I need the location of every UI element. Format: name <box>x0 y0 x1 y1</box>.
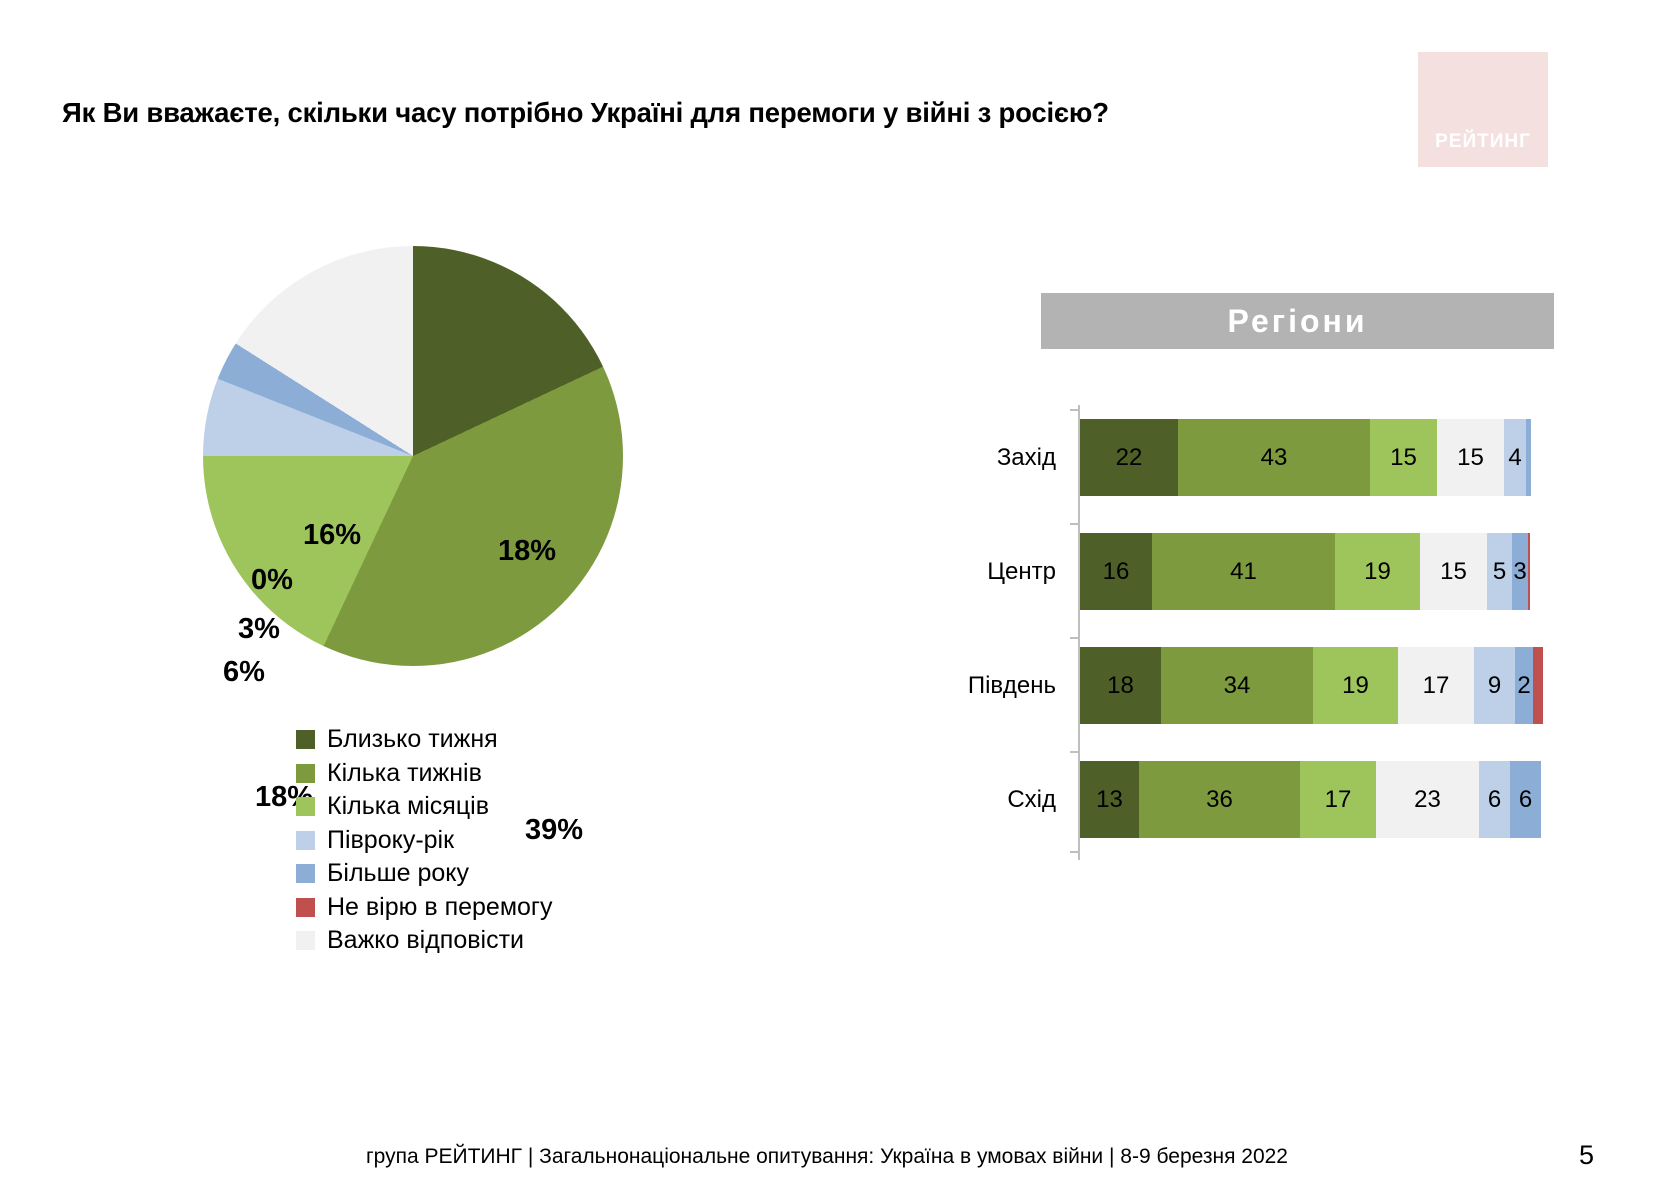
bar-segment[interactable]: 13 <box>1080 761 1139 838</box>
legend-item[interactable]: Півроку-рік <box>296 824 553 858</box>
bar-row-label: Південь <box>960 672 1070 700</box>
bar-segment-value: 18 <box>1107 672 1134 700</box>
bar-segment[interactable]: 19 <box>1335 533 1420 610</box>
regions-header: Регіони <box>1041 293 1554 349</box>
bar-segment[interactable]: 6 <box>1479 761 1510 838</box>
legend-item[interactable]: Важко відповісти <box>296 924 553 958</box>
bar-segment[interactable]: 22 <box>1080 419 1178 496</box>
pie-chart: 18% 39% 18% 6% 3% 0% 16% <box>203 246 643 686</box>
bar-track: 1641191553 <box>1080 533 1530 610</box>
bar-segment[interactable]: 15 <box>1420 533 1487 610</box>
rating-logo: РЕЙТИНГ <box>1418 52 1548 167</box>
pie-label-pivroku-rik: 6% <box>223 656 265 689</box>
bar-segment-value: 15 <box>1390 444 1417 472</box>
bar-segment[interactable]: 23 <box>1376 761 1479 838</box>
logo-text: РЕЙТИНГ <box>1435 131 1531 167</box>
bar-segment[interactable]: 34 <box>1161 647 1313 724</box>
bar-segment[interactable]: 5 <box>1487 533 1512 610</box>
bar-segment-value: 3 <box>1513 558 1526 586</box>
bar-segment[interactable]: 15 <box>1370 419 1437 496</box>
bar-segment[interactable]: 41 <box>1152 533 1335 610</box>
pie-legend: Близько тижняКілька тижнівКілька місяців… <box>296 723 553 958</box>
page-number: 5 <box>1579 1140 1594 1171</box>
legend-swatch-icon <box>296 764 315 783</box>
bar-row-label: Захід <box>960 444 1070 472</box>
bar-segment-value: 6 <box>1488 786 1501 814</box>
bar-row-label: Схід <box>960 786 1070 814</box>
bar-row: Центр1641191553 <box>960 533 1560 610</box>
axis-tick <box>1070 409 1080 411</box>
bar-segment[interactable]: 36 <box>1139 761 1300 838</box>
bar-segment[interactable]: 6 <box>1510 761 1541 838</box>
bar-segment[interactable] <box>1528 533 1530 610</box>
bar-segment[interactable]: 9 <box>1474 647 1515 724</box>
bar-segment-value: 9 <box>1488 672 1501 700</box>
legend-item-label: Близько тижня <box>327 727 498 752</box>
bar-segment-value: 2 <box>1517 672 1530 700</box>
legend-swatch-icon <box>296 730 315 749</box>
pie-label-vazhko-vidpovisty: 16% <box>303 519 361 552</box>
bar-segment[interactable]: 3 <box>1512 533 1528 610</box>
bar-segment-value: 19 <box>1342 672 1369 700</box>
bar-segment[interactable]: 43 <box>1178 419 1370 496</box>
legend-item[interactable]: Кілька тижнів <box>296 757 553 791</box>
bar-row: Південь1834191792 <box>960 647 1560 724</box>
legend-item[interactable]: Більше року <box>296 857 553 891</box>
bar-segment-value: 41 <box>1230 558 1257 586</box>
pie-label-ne-viryu: 0% <box>251 564 293 597</box>
bar-segment[interactable] <box>1533 647 1543 724</box>
page-title: Як Ви вважаєте, скільки часу потрібно Ук… <box>62 97 1382 129</box>
bar-segment-value: 6 <box>1519 786 1532 814</box>
legend-item-label: Важко відповісти <box>327 928 524 953</box>
bar-track: 1834191792 <box>1080 647 1543 724</box>
bar-segment-value: 4 <box>1508 444 1521 472</box>
pie-label-blyzko-tyzhnya: 18% <box>498 535 556 568</box>
bar-segment-value: 23 <box>1414 786 1441 814</box>
bar-segment-value: 34 <box>1224 672 1251 700</box>
bar-segment[interactable] <box>1526 419 1531 496</box>
bar-segment[interactable]: 17 <box>1398 647 1474 724</box>
bar-row-label: Центр <box>960 558 1070 586</box>
legend-item-label: Більше року <box>327 861 469 886</box>
axis-tick <box>1070 523 1080 525</box>
bar-segment-value: 15 <box>1457 444 1484 472</box>
bar-segment[interactable]: 2 <box>1515 647 1533 724</box>
bar-segment-value: 13 <box>1096 786 1123 814</box>
bar-segment[interactable]: 18 <box>1080 647 1161 724</box>
bar-segment-value: 17 <box>1325 786 1352 814</box>
legend-item[interactable]: Близько тижня <box>296 723 553 757</box>
pie-label-bilshe-roku: 3% <box>238 613 280 646</box>
bar-segment-value: 17 <box>1423 672 1450 700</box>
legend-swatch-icon <box>296 831 315 850</box>
footer-text: група РЕЙТИНГ | Загальнонаціональне опит… <box>0 1145 1654 1169</box>
bar-segment[interactable]: 4 <box>1504 419 1526 496</box>
bar-row: Схід1336172366 <box>960 761 1560 838</box>
axis-tick <box>1070 637 1080 639</box>
legend-item-label: Кілька місяців <box>327 794 489 819</box>
bar-segment-value: 16 <box>1103 558 1130 586</box>
axis-tick <box>1070 851 1080 853</box>
legend-item-label: Не вірю в перемогу <box>327 895 553 920</box>
bar-segment-value: 43 <box>1261 444 1288 472</box>
bar-segment-value: 15 <box>1440 558 1467 586</box>
bar-segment-value: 5 <box>1493 558 1506 586</box>
bar-track: 1336172366 <box>1080 761 1541 838</box>
pie-disc <box>203 246 623 666</box>
legend-item[interactable]: Не вірю в перемогу <box>296 891 553 925</box>
legend-swatch-icon <box>296 864 315 883</box>
bar-segment[interactable]: 15 <box>1437 419 1504 496</box>
bar-segment-value: 36 <box>1206 786 1233 814</box>
bar-segment-value: 19 <box>1364 558 1391 586</box>
legend-item-label: Кілька тижнів <box>327 761 482 786</box>
legend-item-label: Півроку-рік <box>327 828 454 853</box>
legend-item[interactable]: Кілька місяців <box>296 790 553 824</box>
regions-bar-chart: Захід224315154Центр1641191553Південь1834… <box>960 405 1560 865</box>
legend-swatch-icon <box>296 898 315 917</box>
bar-segment[interactable]: 19 <box>1313 647 1398 724</box>
legend-swatch-icon <box>296 797 315 816</box>
bar-segment[interactable]: 17 <box>1300 761 1376 838</box>
bar-row: Захід224315154 <box>960 419 1560 496</box>
regions-header-text: Регіони <box>1227 303 1367 340</box>
legend-swatch-icon <box>296 931 315 950</box>
axis-tick <box>1070 751 1080 753</box>
bar-segment-value: 22 <box>1116 444 1143 472</box>
bar-track: 224315154 <box>1080 419 1531 496</box>
bar-segment[interactable]: 16 <box>1080 533 1152 610</box>
